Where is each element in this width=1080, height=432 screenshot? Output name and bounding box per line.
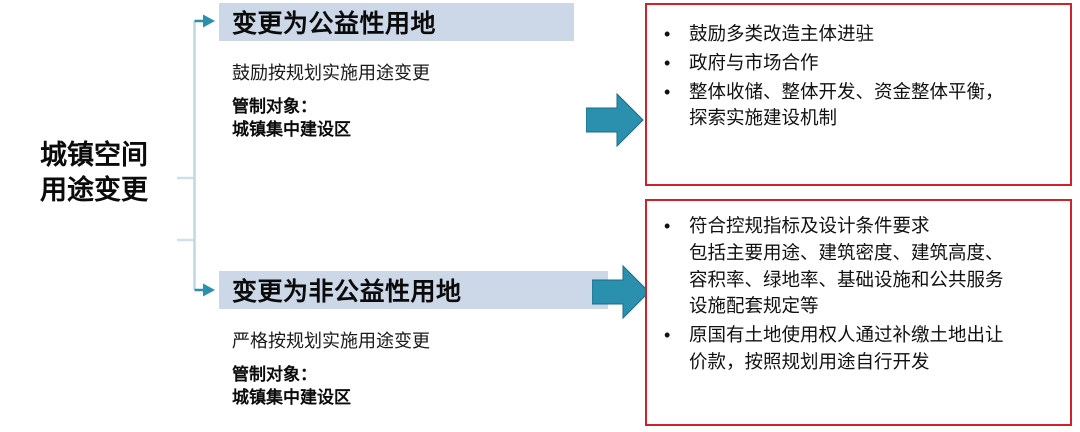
branch-target-value: 城镇集中建设区	[232, 119, 351, 142]
list-item: • 原国有土地使用权人通过补缴土地出让 价款，按照规划用途自行开发	[661, 322, 1062, 376]
bullet-icon: •	[661, 79, 689, 105]
list-item-line: 包括主要用途、建筑密度、建筑高度、	[689, 240, 1062, 267]
block-arrow-right-public	[586, 91, 644, 149]
bullet-icon: •	[661, 213, 689, 239]
bullet-icon: •	[661, 322, 689, 348]
branch-target-label: 管制对象：	[232, 96, 351, 119]
list-item-line: 整体收储、整体开发、资金整体平衡，	[689, 79, 1062, 106]
branch-header-bar: 变更为非公益性用地	[219, 271, 608, 309]
branch-public-welfare-land[interactable]: 变更为公益性用地 鼓励按规划实施用途变更 管制对象： 城镇集中建设区	[219, 3, 639, 143]
list-item: • 符合控规指标及设计条件要求 包括主要用途、建筑密度、建筑高度、 容积率、绿地…	[661, 213, 1062, 320]
bullet-icon: •	[661, 21, 689, 47]
branch-target-value: 城镇集中建设区	[232, 387, 351, 410]
outcome-box-public-welfare: • 鼓励多类改造主体进驻 • 政府与市场合作 • 整体收储、整体开发、资金整体平…	[645, 3, 1072, 186]
branch-target-block: 管制对象： 城镇集中建设区	[232, 364, 351, 409]
branch-subtitle: 严格按规划实施用途变更	[232, 327, 430, 353]
list-item-text: 整体收储、整体开发、资金整体平衡， 探索实施建设机制	[689, 79, 1062, 133]
branch-title: 变更为非公益性用地	[219, 272, 462, 308]
bullet-list: • 鼓励多类改造主体进驻 • 政府与市场合作 • 整体收储、整体开发、资金整体平…	[661, 21, 1062, 134]
list-item-text: 政府与市场合作	[689, 50, 1062, 77]
connector-arrowhead-bottom	[203, 284, 215, 297]
list-item-line: 价款，按照规划用途自行开发	[689, 349, 1062, 376]
branch-non-public-welfare-land[interactable]: 变更为非公益性用地 严格按规划实施用途变更 管制对象： 城镇集中建设区	[219, 271, 639, 411]
list-item-line: 鼓励多类改造主体进驻	[689, 21, 1062, 48]
list-item: • 鼓励多类改造主体进驻	[661, 21, 1062, 48]
root-label-line-2: 用途变更	[10, 173, 178, 208]
list-item-line: 符合控规指标及设计条件要求	[689, 213, 1062, 240]
list-item-line: 原国有土地使用权人通过补缴土地出让	[689, 322, 1062, 349]
list-item-text: 原国有土地使用权人通过补缴土地出让 价款，按照规划用途自行开发	[689, 322, 1062, 376]
bullet-icon: •	[661, 50, 689, 76]
outcome-box-non-public-welfare: • 符合控规指标及设计条件要求 包括主要用途、建筑密度、建筑高度、 容积率、绿地…	[645, 199, 1072, 426]
list-item-text: 符合控规指标及设计条件要求 包括主要用途、建筑密度、建筑高度、 容积率、绿地率、…	[689, 213, 1062, 320]
block-arrow-right-non-public	[592, 263, 650, 321]
branch-title: 变更为公益性用地	[219, 4, 436, 40]
branch-header-bar: 变更为公益性用地	[219, 3, 574, 41]
connector-arrowhead-top	[203, 15, 215, 28]
list-item-line: 设施配套规定等	[689, 293, 1062, 320]
bullet-list: • 符合控规指标及设计条件要求 包括主要用途、建筑密度、建筑高度、 容积率、绿地…	[661, 213, 1062, 378]
list-item-line: 政府与市场合作	[689, 50, 1062, 77]
list-item: • 政府与市场合作	[661, 50, 1062, 77]
branch-target-label: 管制对象：	[232, 364, 351, 387]
list-item-text: 鼓励多类改造主体进驻	[689, 21, 1062, 48]
root-label-line-1: 城镇空间	[10, 138, 178, 173]
diagram-canvas: 城镇空间 用途变更 变更为公益性用地 鼓励按规划实施用途变更 管制对象： 城镇集…	[0, 0, 1080, 432]
branch-subtitle: 鼓励按规划实施用途变更	[232, 59, 430, 85]
branch-target-block: 管制对象： 城镇集中建设区	[232, 96, 351, 141]
list-item: • 整体收储、整体开发、资金整体平衡， 探索实施建设机制	[661, 79, 1062, 133]
root-label: 城镇空间 用途变更	[10, 138, 178, 207]
list-item-line: 容积率、绿地率、基础设施和公共服务	[689, 267, 1062, 294]
list-item-line: 探索实施建设机制	[689, 105, 1062, 132]
